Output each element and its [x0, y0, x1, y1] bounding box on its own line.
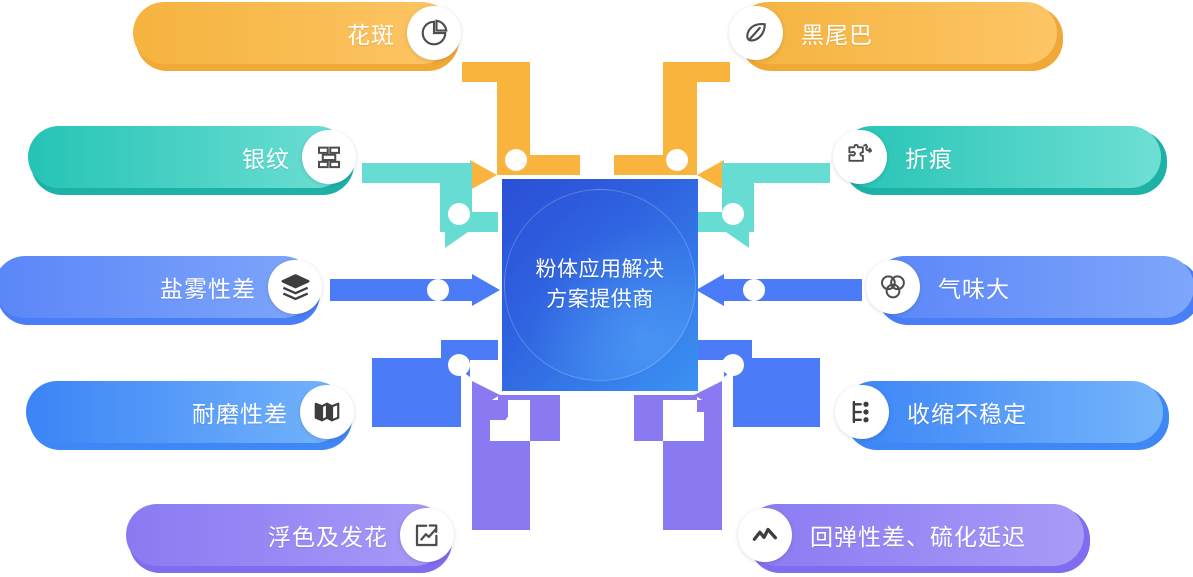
pill-body: 银纹	[28, 126, 348, 188]
diagram-canvas: 粉体应用解决 方案提供商 花斑 黑尾巴 银纹	[0, 0, 1193, 577]
connector-mid-right	[696, 274, 862, 306]
connector-mid-top-left	[362, 163, 498, 248]
pill-body: 盐雾性差	[0, 256, 314, 318]
node-pill-4[interactable]: 盐雾性差	[0, 256, 314, 318]
hub-title: 粉体应用解决 方案提供商	[502, 255, 698, 315]
node-label-8: 浮色及发花	[268, 518, 388, 552]
center-hub: 粉体应用解决 方案提供商	[502, 179, 698, 391]
connector-top-right	[614, 62, 730, 190]
node-label-3: 折痕	[905, 140, 953, 174]
pill-body: 收缩不稳定	[843, 381, 1163, 443]
node-label-1: 黑尾巴	[801, 16, 873, 50]
node-pill-3[interactable]: 折痕	[841, 126, 1161, 188]
node-pill-1[interactable]: 黑尾巴	[737, 2, 1057, 64]
pill-body: 耐磨性差	[26, 381, 346, 443]
node-pill-2[interactable]: 银纹	[28, 126, 348, 188]
recycle-icon	[866, 260, 920, 314]
pill-body: 折痕	[841, 126, 1161, 188]
node-pill-6[interactable]: 耐磨性差	[26, 381, 346, 443]
connector-bottom-left	[472, 381, 560, 530]
sitemap-icon	[835, 385, 889, 439]
node-label-7: 收缩不稳定	[907, 395, 1027, 429]
node-pill-8[interactable]: 浮色及发花	[126, 504, 446, 566]
node-pill-9[interactable]: 回弹性差、硫化延迟	[746, 504, 1084, 566]
connector-mid-left	[330, 274, 500, 306]
pill-body: 黑尾巴	[737, 2, 1057, 64]
open-book-icon	[300, 385, 354, 439]
node-pill-7[interactable]: 收缩不稳定	[843, 381, 1163, 443]
node-label-9: 回弹性差、硫化延迟	[810, 518, 1026, 552]
pill-body: 花斑	[133, 2, 453, 64]
puzzle-piece-icon	[833, 130, 887, 184]
leaf-icon	[729, 6, 783, 60]
pill-body: 回弹性差、硫化延迟	[746, 504, 1084, 566]
connector-mid-top-right	[697, 163, 830, 248]
connector-mid-bottom-left	[372, 340, 498, 427]
connector-top-left	[462, 62, 580, 190]
connector-bottom-right	[634, 381, 722, 530]
brick-wall-icon	[302, 130, 356, 184]
connector-mid-bottom-right	[697, 340, 820, 427]
line-chart-icon	[738, 508, 792, 562]
node-label-4: 盐雾性差	[160, 270, 256, 304]
node-pill-0[interactable]: 花斑	[133, 2, 453, 64]
node-label-6: 耐磨性差	[192, 395, 288, 429]
node-label-0: 花斑	[347, 16, 395, 50]
pill-body: 气味大	[874, 256, 1193, 318]
node-label-5: 气味大	[938, 270, 1010, 304]
pill-body: 浮色及发花	[126, 504, 446, 566]
trend-up-icon	[400, 508, 454, 562]
layers-icon	[268, 260, 322, 314]
node-label-2: 银纹	[242, 140, 290, 174]
pie-chart-icon	[407, 6, 461, 60]
node-pill-5[interactable]: 气味大	[874, 256, 1193, 318]
